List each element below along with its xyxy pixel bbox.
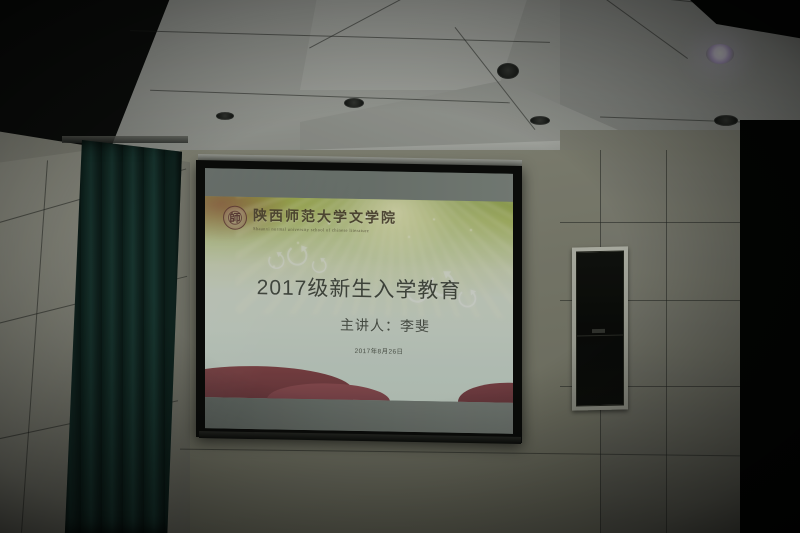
slide-date: 2017年8月26日 — [205, 342, 513, 358]
window-mullion — [577, 334, 623, 336]
slide-header-logo: 師 陕西师范大学文学院 Shaanxi normal university sc… — [223, 205, 397, 234]
downlight-3 — [530, 116, 550, 125]
wordmark: 陕西师范大学文学院 Shaanxi normal university scho… — [253, 205, 397, 234]
university-seal-icon: 師 — [223, 206, 247, 230]
slide-canvas: ⭯ ⭯ ⭯ ⭯ ⭯ ⭯ 師 陕西师范大学文学院 Shaanxi normal u… — [205, 196, 513, 403]
projection-screen: ⭯ ⭯ ⭯ ⭯ ⭯ ⭯ 師 陕西师范大学文学院 Shaanxi normal u… — [196, 160, 522, 443]
institution-name-cn: 陕西师范大学文学院 — [253, 205, 397, 228]
projection-surface: ⭯ ⭯ ⭯ ⭯ ⭯ ⭯ 師 陕西师范大学文学院 Shaanxi normal u… — [205, 168, 513, 434]
wall-window-glass — [576, 250, 624, 406]
downlight-5 — [216, 112, 234, 120]
downlight-lit — [706, 44, 734, 64]
decorative-hill — [458, 382, 513, 403]
window-latch — [592, 328, 605, 332]
curtain-rod — [62, 136, 188, 143]
lecture-hall-scene: ⭯ ⭯ ⭯ ⭯ ⭯ ⭯ 師 陕西师范大学文学院 Shaanxi normal u… — [0, 0, 800, 533]
slide-title: 2017级新生入学教育 — [205, 270, 513, 306]
slide-subtitle: 主讲人：李斐 — [205, 312, 513, 338]
dancer-silhouette-2: ⭯ — [284, 240, 311, 271]
dark-area-right — [740, 120, 800, 533]
wall-seam — [560, 222, 740, 223]
ceiling-panel-bounce — [300, 0, 530, 90]
wall-seam — [666, 150, 667, 533]
sparkle — [433, 218, 435, 220]
letterbox-bottom — [205, 397, 513, 434]
downlight-1 — [714, 115, 738, 126]
seal-glyph: 師 — [224, 210, 246, 226]
sparkle — [470, 229, 472, 231]
downlight-4 — [344, 98, 364, 108]
downlight-2 — [497, 63, 519, 79]
wall-window-frame — [572, 246, 628, 410]
